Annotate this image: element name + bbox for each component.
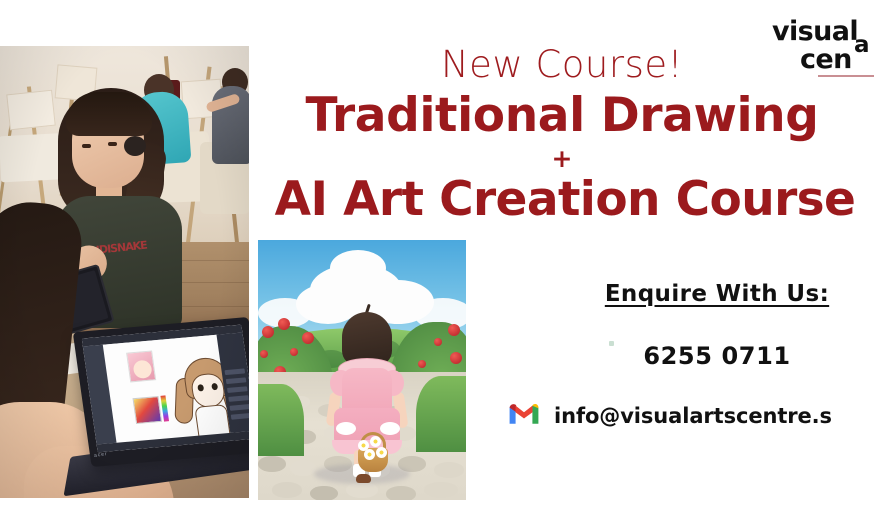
rose — [290, 348, 298, 356]
student-fringe — [66, 92, 152, 136]
dress-bow — [336, 422, 356, 435]
hue-slider-icon — [160, 395, 169, 421]
logo-line-1: visual — [772, 16, 858, 47]
course-title-line-1: Traditional Drawing — [250, 92, 874, 141]
logo-line-2: cen — [800, 44, 852, 75]
reference-thumbnail — [126, 350, 156, 382]
gmail-icon — [508, 401, 540, 430]
poster-canvas: MUDISNAKE — [0, 0, 874, 512]
email-row[interactable]: info@visualartscentre.s — [508, 401, 832, 430]
rose — [434, 338, 442, 346]
student-hair-tie — [124, 136, 146, 156]
illustrated-girl — [324, 312, 408, 482]
laptop — [73, 317, 249, 467]
daisy-flower — [364, 449, 375, 460]
rose — [302, 332, 314, 344]
girl-shoe — [356, 474, 371, 483]
daisy-flower — [370, 436, 381, 447]
email-address[interactable]: info@visualartscentre.s — [554, 404, 832, 428]
logo-underline — [818, 75, 874, 77]
studio-canvas — [6, 90, 56, 131]
daisy-flower — [376, 447, 387, 458]
enquire-heading: Enquire With Us: — [560, 281, 874, 307]
art-studio-photo: MUDISNAKE — [0, 46, 249, 498]
rose — [262, 326, 274, 338]
drawing-canvas — [103, 335, 231, 443]
rose — [278, 318, 290, 330]
rose — [448, 324, 460, 336]
ai-artwork-photo — [258, 240, 466, 500]
cloud — [330, 250, 386, 286]
title-separator: + — [250, 146, 874, 171]
logo-superscript-a: a — [854, 32, 870, 58]
laptop-screen — [82, 325, 249, 453]
rose — [450, 352, 462, 364]
dress-bow — [380, 422, 400, 435]
color-picker-icon — [133, 396, 163, 424]
grass-verge-left — [258, 384, 304, 456]
phone-number[interactable]: 6255 0711 — [560, 342, 874, 370]
rose — [418, 360, 426, 368]
rose — [260, 350, 268, 358]
grass-verge-right — [416, 376, 466, 452]
course-title-line-2: AI Art Creation Course — [250, 176, 874, 225]
visual-arts-centre-logo[interactable]: visual a cen — [772, 12, 874, 78]
